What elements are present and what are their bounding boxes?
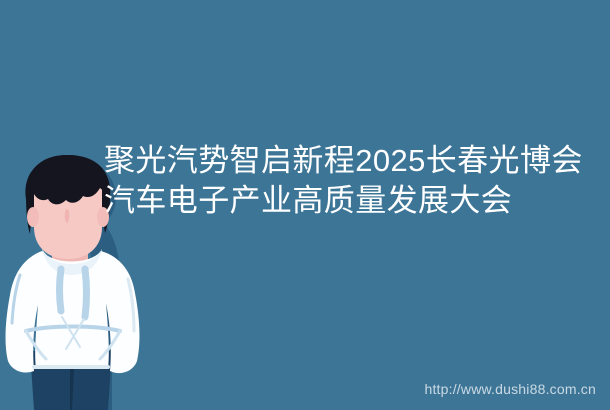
page-title: 聚光汽势智启新程2025长春光博会汽车电子产业高质量发展大会 (104, 141, 596, 221)
watermark-url: http://www.dushi88.com.cn (424, 380, 596, 398)
poster-canvas: 聚光汽势智启新程2025长春光博会汽车电子产业高质量发展大会 http://ww… (0, 0, 610, 410)
